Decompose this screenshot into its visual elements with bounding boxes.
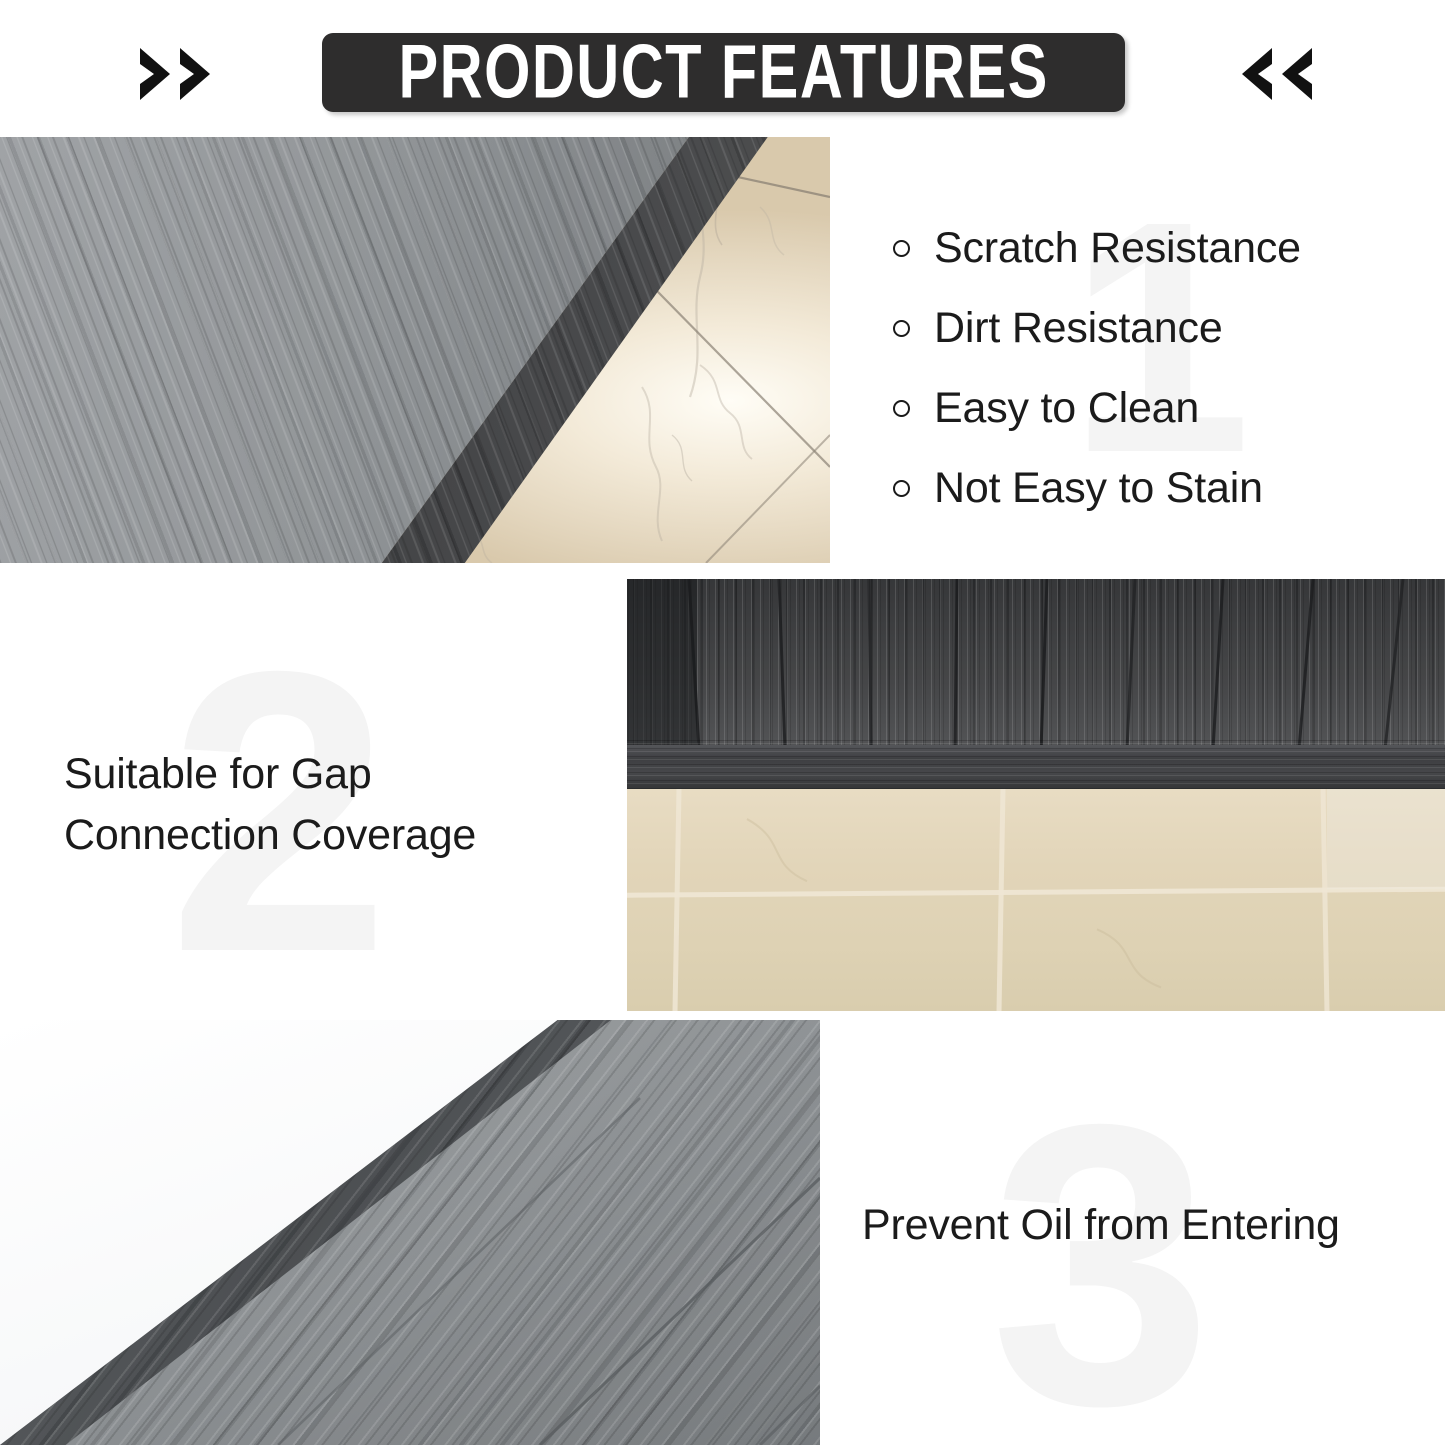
caption-line-2: Connection Coverage bbox=[64, 805, 604, 866]
feature-label: Not Easy to Stain bbox=[934, 464, 1263, 513]
feature-caption-2: Suitable for Gap Connection Coverage bbox=[64, 744, 604, 866]
tile-grout-lines bbox=[627, 789, 1445, 1011]
list-item: Scratch Resistance bbox=[893, 208, 1433, 288]
circle-bullet-icon bbox=[893, 240, 910, 257]
feature-photo-2 bbox=[627, 579, 1445, 1011]
chevron-left-icon bbox=[1240, 46, 1274, 102]
feature-label: Easy to Clean bbox=[934, 384, 1199, 433]
product-features-infographic: PRODUCT FEATURES bbox=[0, 0, 1445, 1445]
caption-line-1: Suitable for Gap bbox=[64, 744, 604, 805]
circle-bullet-icon bbox=[893, 480, 910, 497]
chevron-right-icon bbox=[178, 46, 212, 102]
feature-label: Dirt Resistance bbox=[934, 304, 1223, 353]
page-title: PRODUCT FEATURES bbox=[398, 35, 1048, 111]
list-item: Easy to Clean bbox=[893, 368, 1433, 448]
feature-photo-3 bbox=[0, 1020, 820, 1445]
plank-seam-lines bbox=[627, 579, 1445, 750]
chevron-left-icon bbox=[1280, 46, 1314, 102]
circle-bullet-icon bbox=[893, 320, 910, 337]
feature-caption-3: Prevent Oil from Entering bbox=[862, 1200, 1340, 1252]
transition-strip bbox=[627, 745, 1445, 790]
list-item: Not Easy to Stain bbox=[893, 448, 1433, 528]
double-chevron-right-icon bbox=[138, 46, 212, 102]
double-chevron-left-icon bbox=[1240, 46, 1314, 102]
page-title-banner: PRODUCT FEATURES bbox=[322, 33, 1125, 112]
feature-list: Scratch Resistance Dirt Resistance Easy … bbox=[893, 208, 1433, 528]
feature-photo-1 bbox=[0, 137, 830, 563]
feature-label: Scratch Resistance bbox=[934, 224, 1301, 273]
section-number-watermark-3: 3 bbox=[990, 1065, 1212, 1445]
circle-bullet-icon bbox=[893, 400, 910, 417]
list-item: Dirt Resistance bbox=[893, 288, 1433, 368]
chevron-right-icon bbox=[138, 46, 172, 102]
header: PRODUCT FEATURES bbox=[0, 0, 1445, 137]
